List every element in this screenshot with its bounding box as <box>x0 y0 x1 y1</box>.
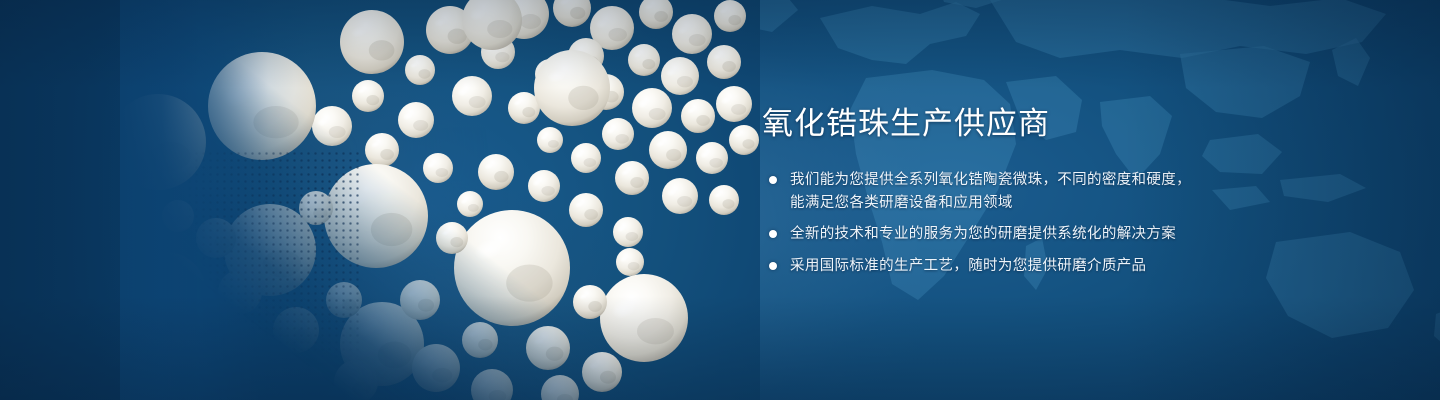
banner-vignette <box>0 0 1440 400</box>
hero-banner: 氧化锆珠生产供应商 我们能为您提供全系列氧化锆陶瓷微珠，不同的密度和硬度， 能满… <box>0 0 1440 400</box>
